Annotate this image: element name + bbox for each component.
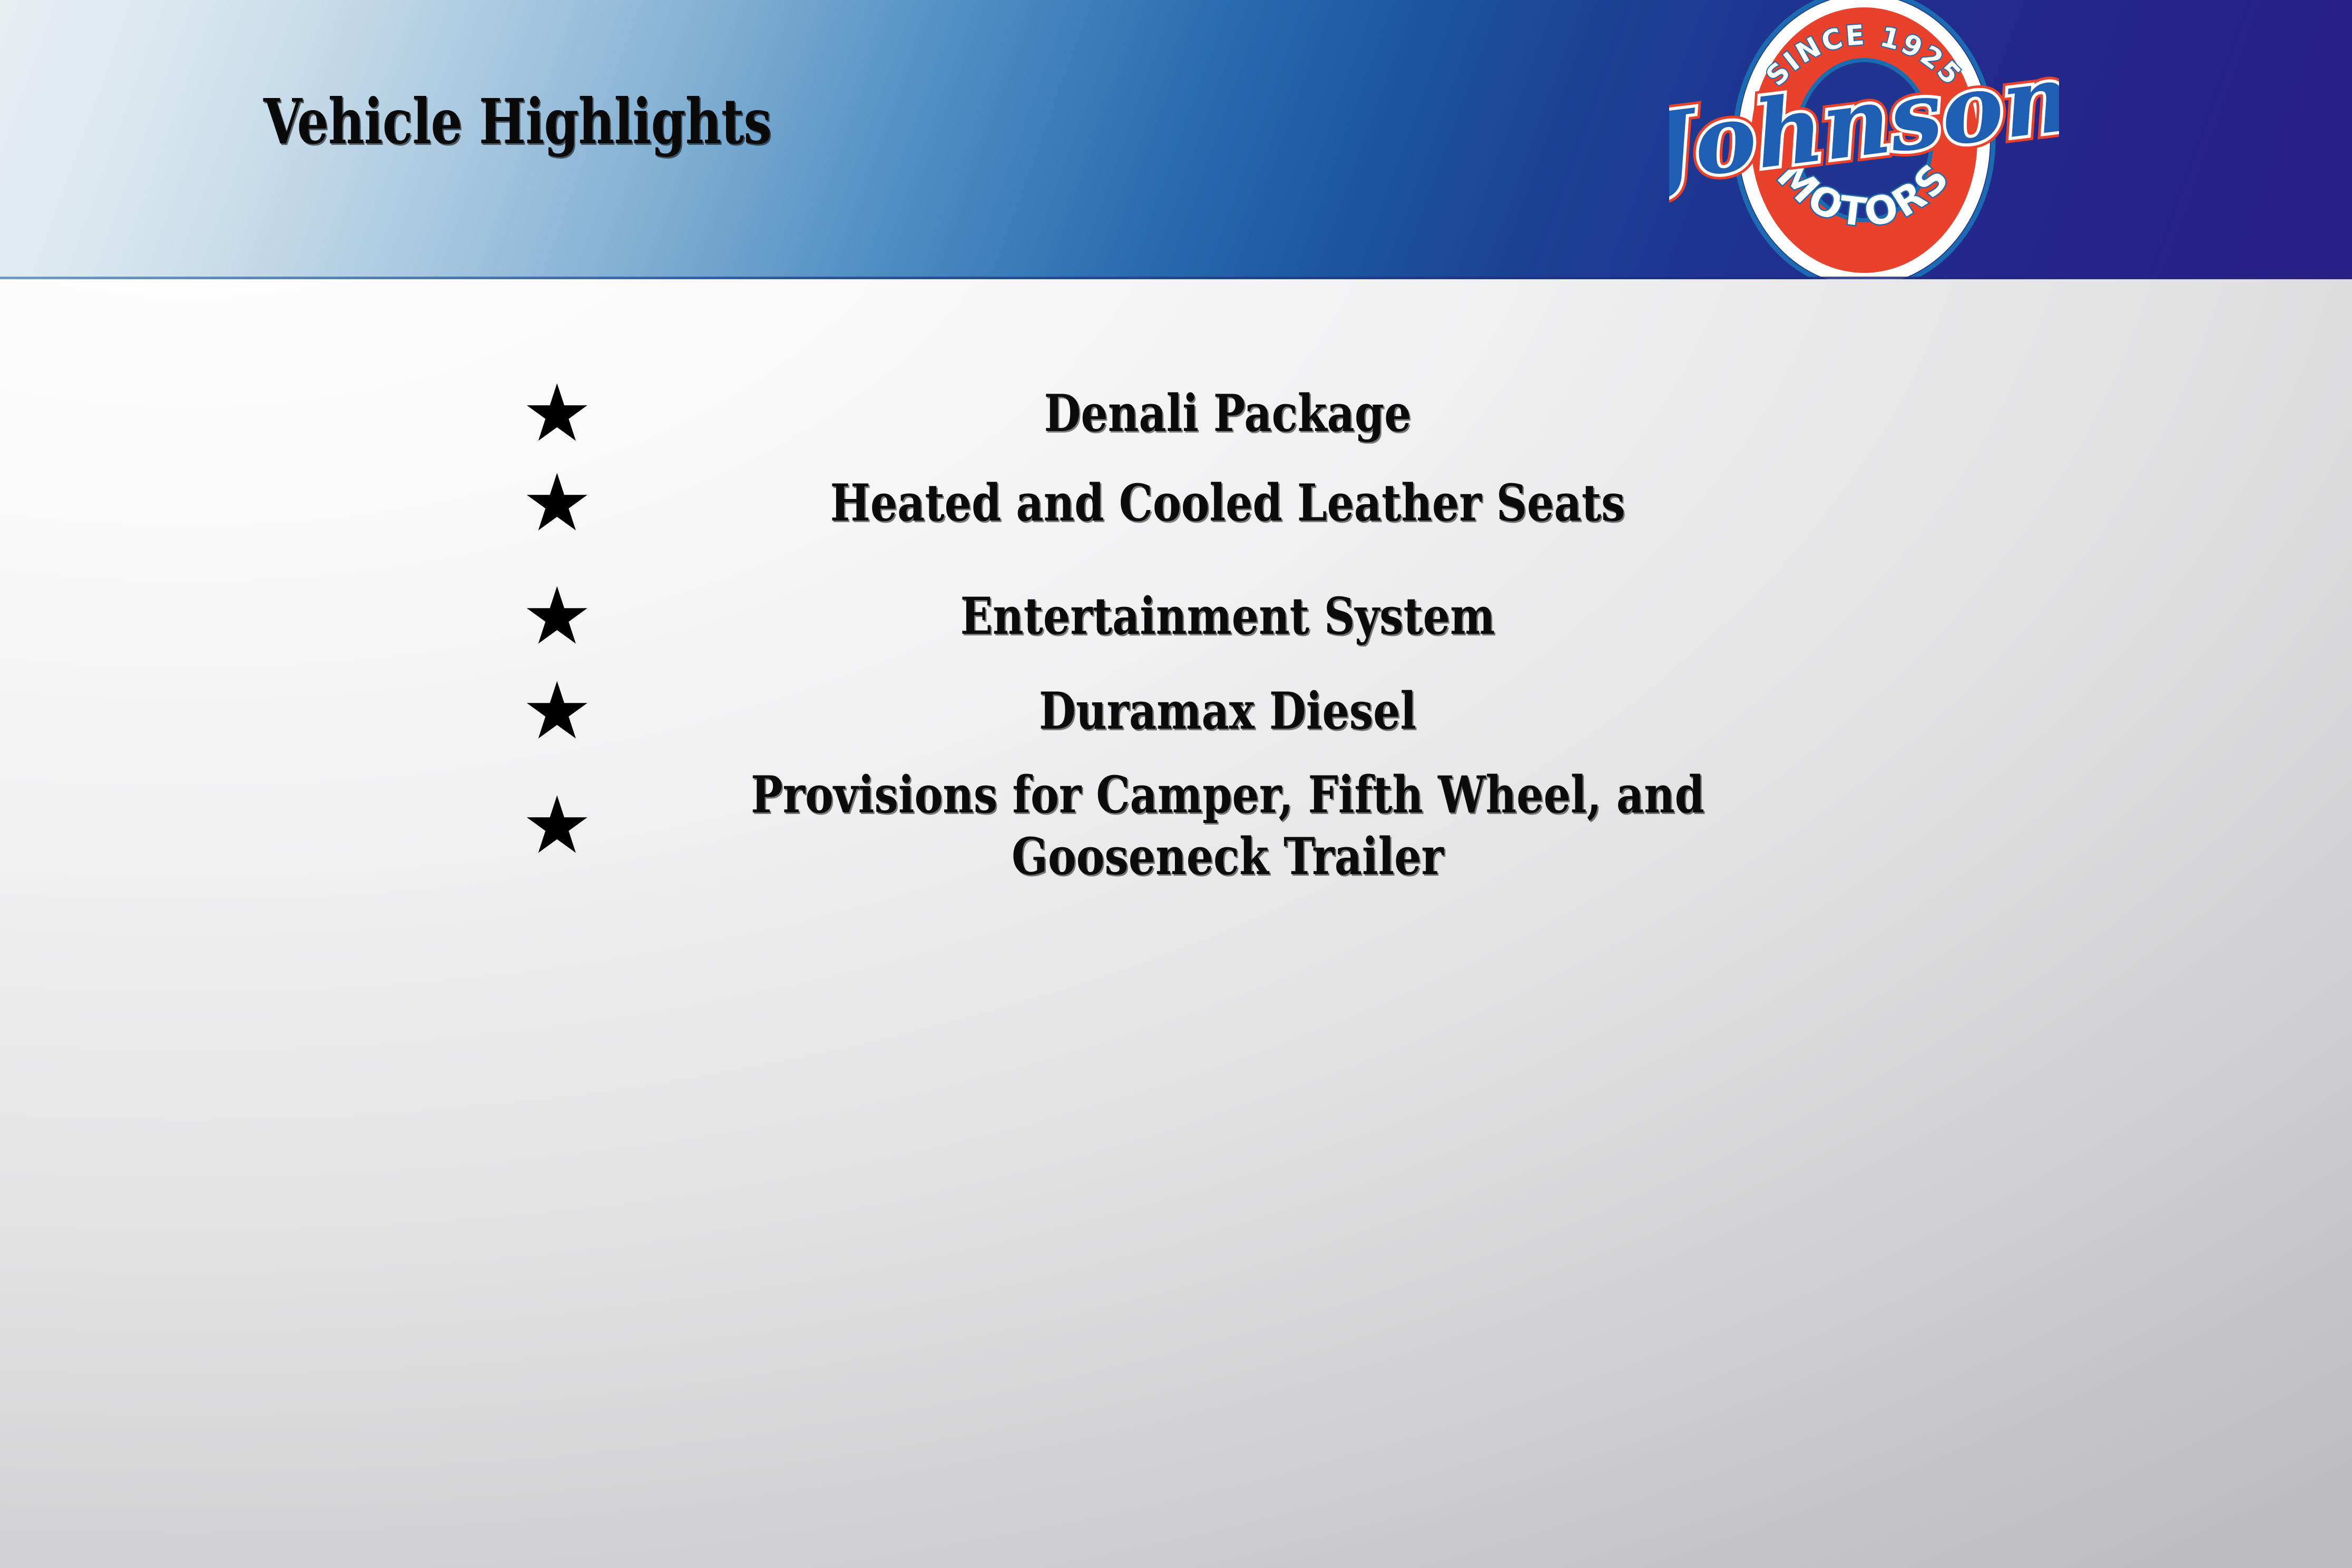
page-title: Vehicle Highlights — [263, 91, 771, 153]
list-item: ★ Provisions for Camper, Fifth Wheel, an… — [522, 764, 1839, 887]
star-icon: ★ — [522, 374, 616, 453]
star-icon: ★ — [522, 464, 616, 543]
list-item-label: Denali Package — [714, 383, 1741, 444]
star-icon: ★ — [522, 577, 616, 656]
list-item: ★ Duramax Diesel — [522, 672, 1839, 751]
header-banner: Vehicle Highlights SINCE 1925 — [0, 0, 2352, 279]
list-item-label: Heated and Cooled Leather Seats — [714, 472, 1741, 534]
list-item: ★ Entertainment System — [522, 577, 1839, 656]
highlights-list: ★ Denali Package ★ Heated and Cooled Lea… — [0, 279, 2352, 1568]
star-icon: ★ — [522, 672, 616, 751]
star-icon: ★ — [522, 786, 616, 865]
list-item-label: Entertainment System — [714, 585, 1741, 647]
list-item-label: Duramax Diesel — [714, 680, 1741, 742]
list-item: ★ Heated and Cooled Leather Seats — [522, 464, 1839, 543]
list-item: ★ Denali Package — [522, 374, 1839, 453]
list-item-label: Provisions for Camper, Fifth Wheel, and … — [714, 764, 1741, 887]
johnson-motors-logo: SINCE 1925 MOTORS Johnson Johnson Johnso… — [1669, 0, 2059, 279]
slide: Vehicle Highlights SINCE 1925 — [0, 0, 2352, 1568]
